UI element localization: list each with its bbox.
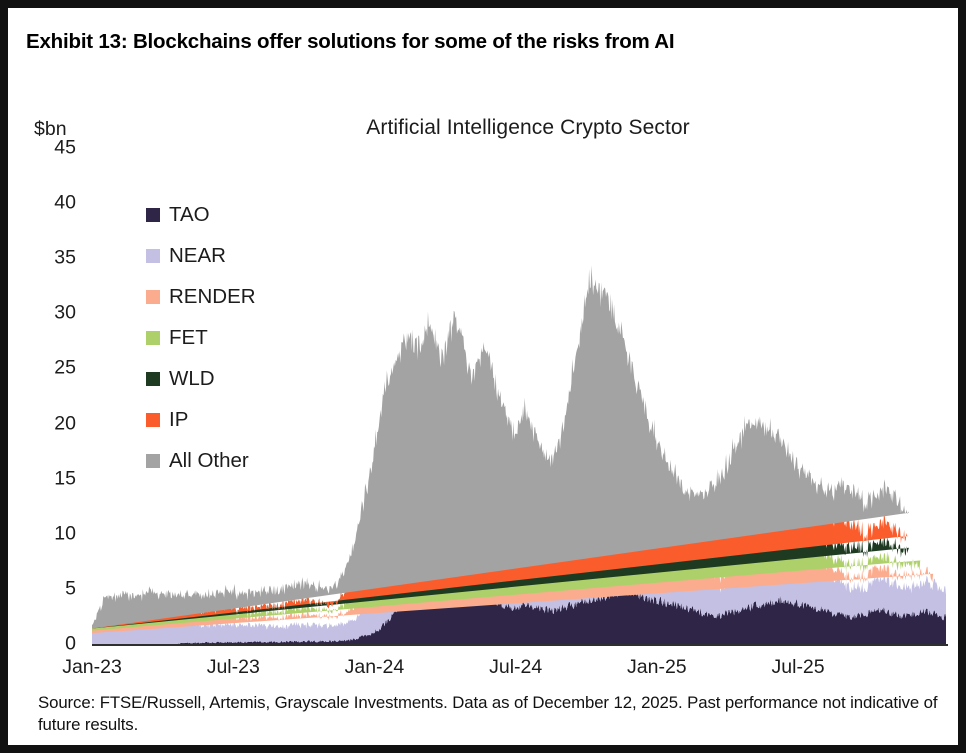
legend-item-render[interactable]: RENDER [146,276,256,317]
legend-item-ip[interactable]: IP [146,399,256,440]
legend-swatch-icon [146,372,160,386]
legend-swatch-icon [146,208,160,222]
exhibit-card: Exhibit 13: Blockchains offer solutions … [8,8,958,745]
source-note: Source: FTSE/Russell, Artemis, Grayscale… [38,692,943,737]
legend-label: NEAR [169,244,226,268]
legend-label: RENDER [169,285,256,309]
legend-swatch-icon [146,413,160,427]
legend-label: WLD [169,367,215,391]
legend-swatch-icon [146,454,160,468]
legend-item-near[interactable]: NEAR [146,235,256,276]
legend-item-wld[interactable]: WLD [146,358,256,399]
legend-label: FET [169,326,208,350]
legend-item-tao[interactable]: TAO [146,194,256,235]
x-tick-jan-24: Jan-24 [345,656,405,679]
x-tick-jul-25: Jul-25 [772,656,825,679]
legend-item-fet[interactable]: FET [146,317,256,358]
legend-label: IP [169,408,188,432]
legend-swatch-icon [146,290,160,304]
legend-swatch-icon [146,249,160,263]
x-tick-jan-23: Jan-23 [62,656,122,679]
legend-label: All Other [169,449,249,473]
legend-label: TAO [169,203,210,227]
legend-item-all-other[interactable]: All Other [146,440,256,481]
x-tick-jan-25: Jan-25 [627,656,687,679]
chart-legend: TAONEARRENDERFETWLDIPAll Other [146,194,256,481]
legend-swatch-icon [146,331,160,345]
x-tick-jul-23: Jul-23 [207,656,260,679]
x-tick-jul-24: Jul-24 [489,656,542,679]
